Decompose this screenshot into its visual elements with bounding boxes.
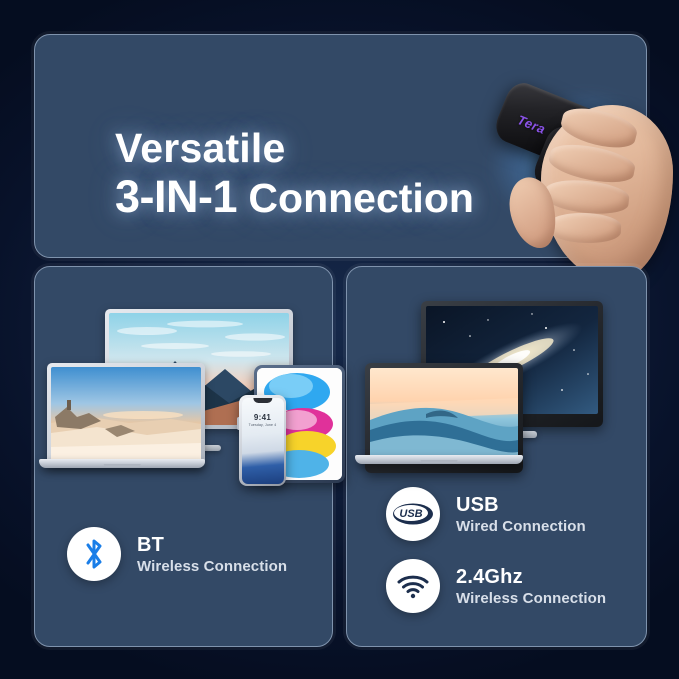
- phone-notch: [253, 398, 272, 403]
- badge-bluetooth-text: BT Wireless Connection: [137, 534, 287, 575]
- headline-emphasis: 3-IN-1: [115, 171, 237, 222]
- badge-wifi: 2.4Ghz Wireless Connection: [386, 559, 606, 613]
- badge-bluetooth-subtitle: Wireless Connection: [137, 558, 287, 575]
- laptop-base-wired: [355, 455, 523, 464]
- svg-text:USB: USB: [399, 508, 422, 520]
- wifi-icon: [386, 559, 440, 613]
- badge-wifi-subtitle: Wireless Connection: [456, 590, 606, 607]
- laptop: [47, 363, 205, 467]
- smartphone: 9:41 Tuesday, June 4: [239, 395, 286, 486]
- badge-bluetooth-title: BT: [137, 534, 287, 556]
- laptop-base: [39, 459, 205, 468]
- page-title: Versatile 3-IN-1 Connection: [115, 127, 495, 220]
- laptop-wallpaper-blue-wave: [370, 368, 518, 460]
- phone-date: Tuesday, June 4: [242, 423, 284, 427]
- bluetooth-panel: 9:41 Tuesday, June 4 BT Wireless Connect…: [34, 266, 333, 647]
- headline-line2-rest: Connection: [237, 175, 474, 221]
- usb-icon: USB: [386, 487, 440, 541]
- bluetooth-glyph: [79, 537, 109, 571]
- badge-usb: USB USB Wired Connection: [386, 487, 586, 541]
- wifi-glyph: [396, 573, 430, 599]
- laptop-wallpaper-coastal-sunset: [51, 367, 201, 463]
- badge-usb-text: USB Wired Connection: [456, 494, 586, 535]
- phone-screen: 9:41 Tuesday, June 4: [242, 398, 284, 484]
- infographic-canvas: Versatile 3-IN-1 Connection Tera: [0, 0, 679, 679]
- badge-wifi-text: 2.4Ghz Wireless Connection: [456, 566, 606, 607]
- wired-panel: USB USB Wired Connection 2.4Ghz Wireles: [346, 266, 647, 647]
- product-image-scanner: Tera: [475, 81, 679, 296]
- badge-wifi-title: 2.4Ghz: [456, 566, 606, 588]
- badge-usb-title: USB: [456, 494, 586, 516]
- headline-line1: Versatile: [115, 127, 495, 170]
- bluetooth-icon: [67, 527, 121, 581]
- laptop-trackpad-notch-wired: [421, 460, 458, 463]
- phone-side-button: [237, 417, 240, 430]
- hero-panel: Versatile 3-IN-1 Connection Tera: [34, 34, 647, 258]
- badge-bluetooth: BT Wireless Connection: [67, 527, 287, 581]
- headline-line2: 3-IN-1 Connection: [115, 174, 495, 221]
- phone-time: 9:41: [242, 413, 284, 422]
- laptop-trackpad-notch: [104, 464, 141, 467]
- usb-glyph: USB: [391, 501, 435, 527]
- badge-usb-subtitle: Wired Connection: [456, 518, 586, 535]
